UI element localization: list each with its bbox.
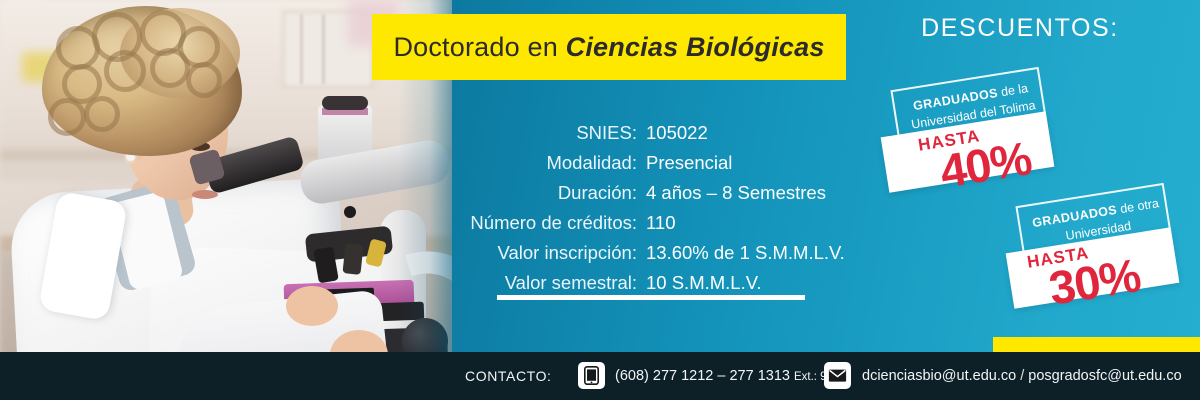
detail-value: 105022 [646,122,708,144]
program-title-banner: Doctorado en Ciencias Biológicas [372,14,846,80]
program-promo-banner: Doctorado en Ciencias Biológicas SNIES: … [0,0,1200,400]
detail-label: Valor semestral: [452,272,646,294]
detail-value: 10 S.M.M.L.V. [646,272,762,294]
detail-value: 13.60% de 1 S.M.M.L.V. [646,242,845,264]
phone-icon [578,362,605,389]
discount-audience-rest: de la [997,81,1029,100]
email-icon [824,362,851,389]
detail-label: Número de créditos: [452,212,646,234]
detail-row: SNIES: 105022 [452,122,852,144]
hair-curl [150,48,190,88]
detail-label: SNIES: [452,122,646,144]
detail-value: Presencial [646,152,732,174]
hair-curl [186,62,222,98]
phone-number-text: (608) 277 1212 – 277 1313 [615,368,794,384]
title-emphasis: Ciencias Biológicas [566,32,825,62]
detail-row: Número de créditos: 110 [452,212,852,234]
detail-row: Valor inscripción: 13.60% de 1 S.M.M.L.V… [452,242,852,264]
page-title: Doctorado en Ciencias Biológicas [393,32,824,63]
hair-curl [48,98,86,136]
discounts-heading: DESCUENTOS: [900,14,1140,43]
contact-footer: CONTACTO: (608) 277 1212 – 277 1313 Ext.… [0,352,1200,400]
email-secondary[interactable]: posgradosfc@ut.edu.co [1028,368,1181,384]
photo-background-box-line-2 [322,14,325,84]
title-prefix: Doctorado en [393,32,565,62]
detail-value: 110 [646,212,676,234]
detail-row: Duración: 4 años – 8 Semestres [452,182,852,204]
detail-label: Duración: [452,182,646,204]
hand-left [286,286,338,326]
microscope-screw [344,206,356,218]
detail-row: Valor semestral: 10 S.M.M.L.V. [452,272,852,294]
yellow-accent-bar [993,337,1200,352]
email-addresses[interactable]: dcienciasbio@ut.edu.co / posgradosfc@ut.… [862,368,1182,384]
program-details-list: SNIES: 105022 Modalidad: Presencial Dura… [452,122,852,302]
email-separator: / [1016,368,1028,384]
discount-audience-rest: de otra [1116,196,1160,216]
hair-curl [84,96,120,132]
email-primary[interactable]: dcienciasbio@ut.edu.co [862,368,1016,384]
phone-number: (608) 277 1212 – 277 1313 Ext.: 9357 [615,368,846,384]
microscope-tube-cap [322,96,368,110]
photo-background-box-line [300,14,303,84]
contacto-label: CONTACTO: [465,368,552,384]
detail-label: Valor inscripción: [452,242,646,264]
microscope-objective [342,243,363,275]
detail-label: Modalidad: [452,152,646,174]
divider-rule [497,295,805,300]
detail-row: Modalidad: Presencial [452,152,852,174]
hair-curl [104,50,146,92]
detail-value: 4 años – 8 Semestres [646,182,826,204]
